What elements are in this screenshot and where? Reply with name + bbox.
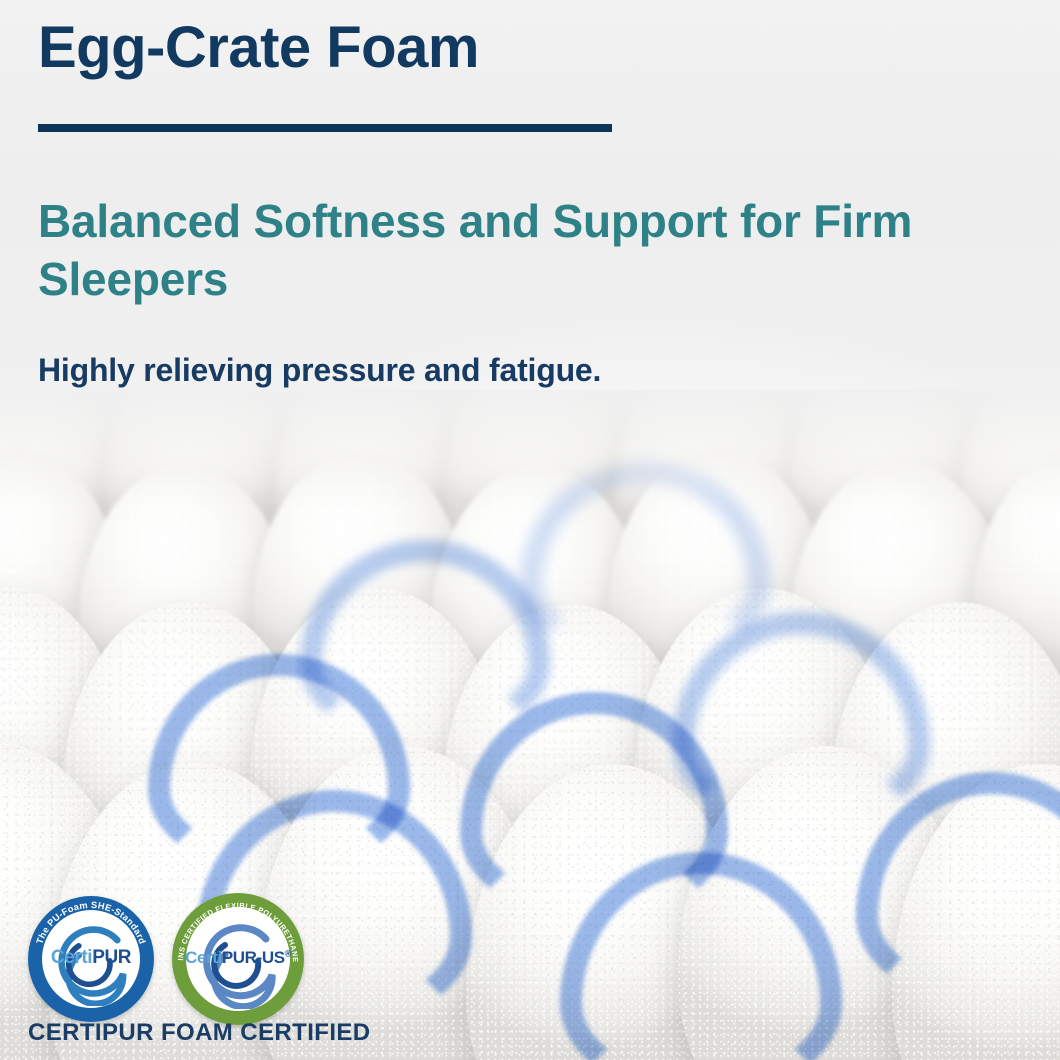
- page-tagline: Highly relieving pressure and fatigue.: [38, 352, 601, 389]
- registered-trademark-icon: ®: [285, 949, 291, 959]
- certification-badges: The PU-Foam SHE-Standard Europur AISBL –…: [28, 893, 304, 1025]
- badge-wordmark: CertiPUR-US®: [172, 948, 304, 968]
- product-feature-card: Egg-Crate Foam Balanced Softness and Sup…: [0, 0, 1060, 1060]
- svg-text:WWW.CERTIPUR.US: WWW.CERTIPUR.US: [198, 984, 277, 1009]
- badge-word-left: Certi: [51, 947, 92, 968]
- badge-top-arc-label: The PU-Foam SHE-Standard: [34, 900, 147, 945]
- badge-word-left: Certi: [185, 948, 222, 967]
- page-subtitle: Balanced Softness and Support for Firm S…: [38, 192, 978, 309]
- badge-word-right: PUR: [92, 947, 131, 968]
- svg-text:The PU-Foam SHE-Standard: The PU-Foam SHE-Standard: [34, 900, 147, 945]
- certipur-us-badge: CONTAINS CERTIFIED FLEXIBLE POLYURETHANE…: [172, 893, 304, 1025]
- badge-bottom-arc-label: WWW.CERTIPUR.US: [198, 984, 277, 1009]
- badge-word-right: PUR-US: [222, 948, 285, 967]
- page-title: Egg-Crate Foam: [38, 17, 479, 78]
- title-divider: [38, 124, 612, 132]
- certipur-europe-badge: The PU-Foam SHE-Standard Europur AISBL –…: [28, 896, 154, 1022]
- badge-wordmark: CertiPUR: [28, 947, 154, 969]
- certification-caption: CERTIPUR FOAM CERTIFIED: [28, 1019, 371, 1047]
